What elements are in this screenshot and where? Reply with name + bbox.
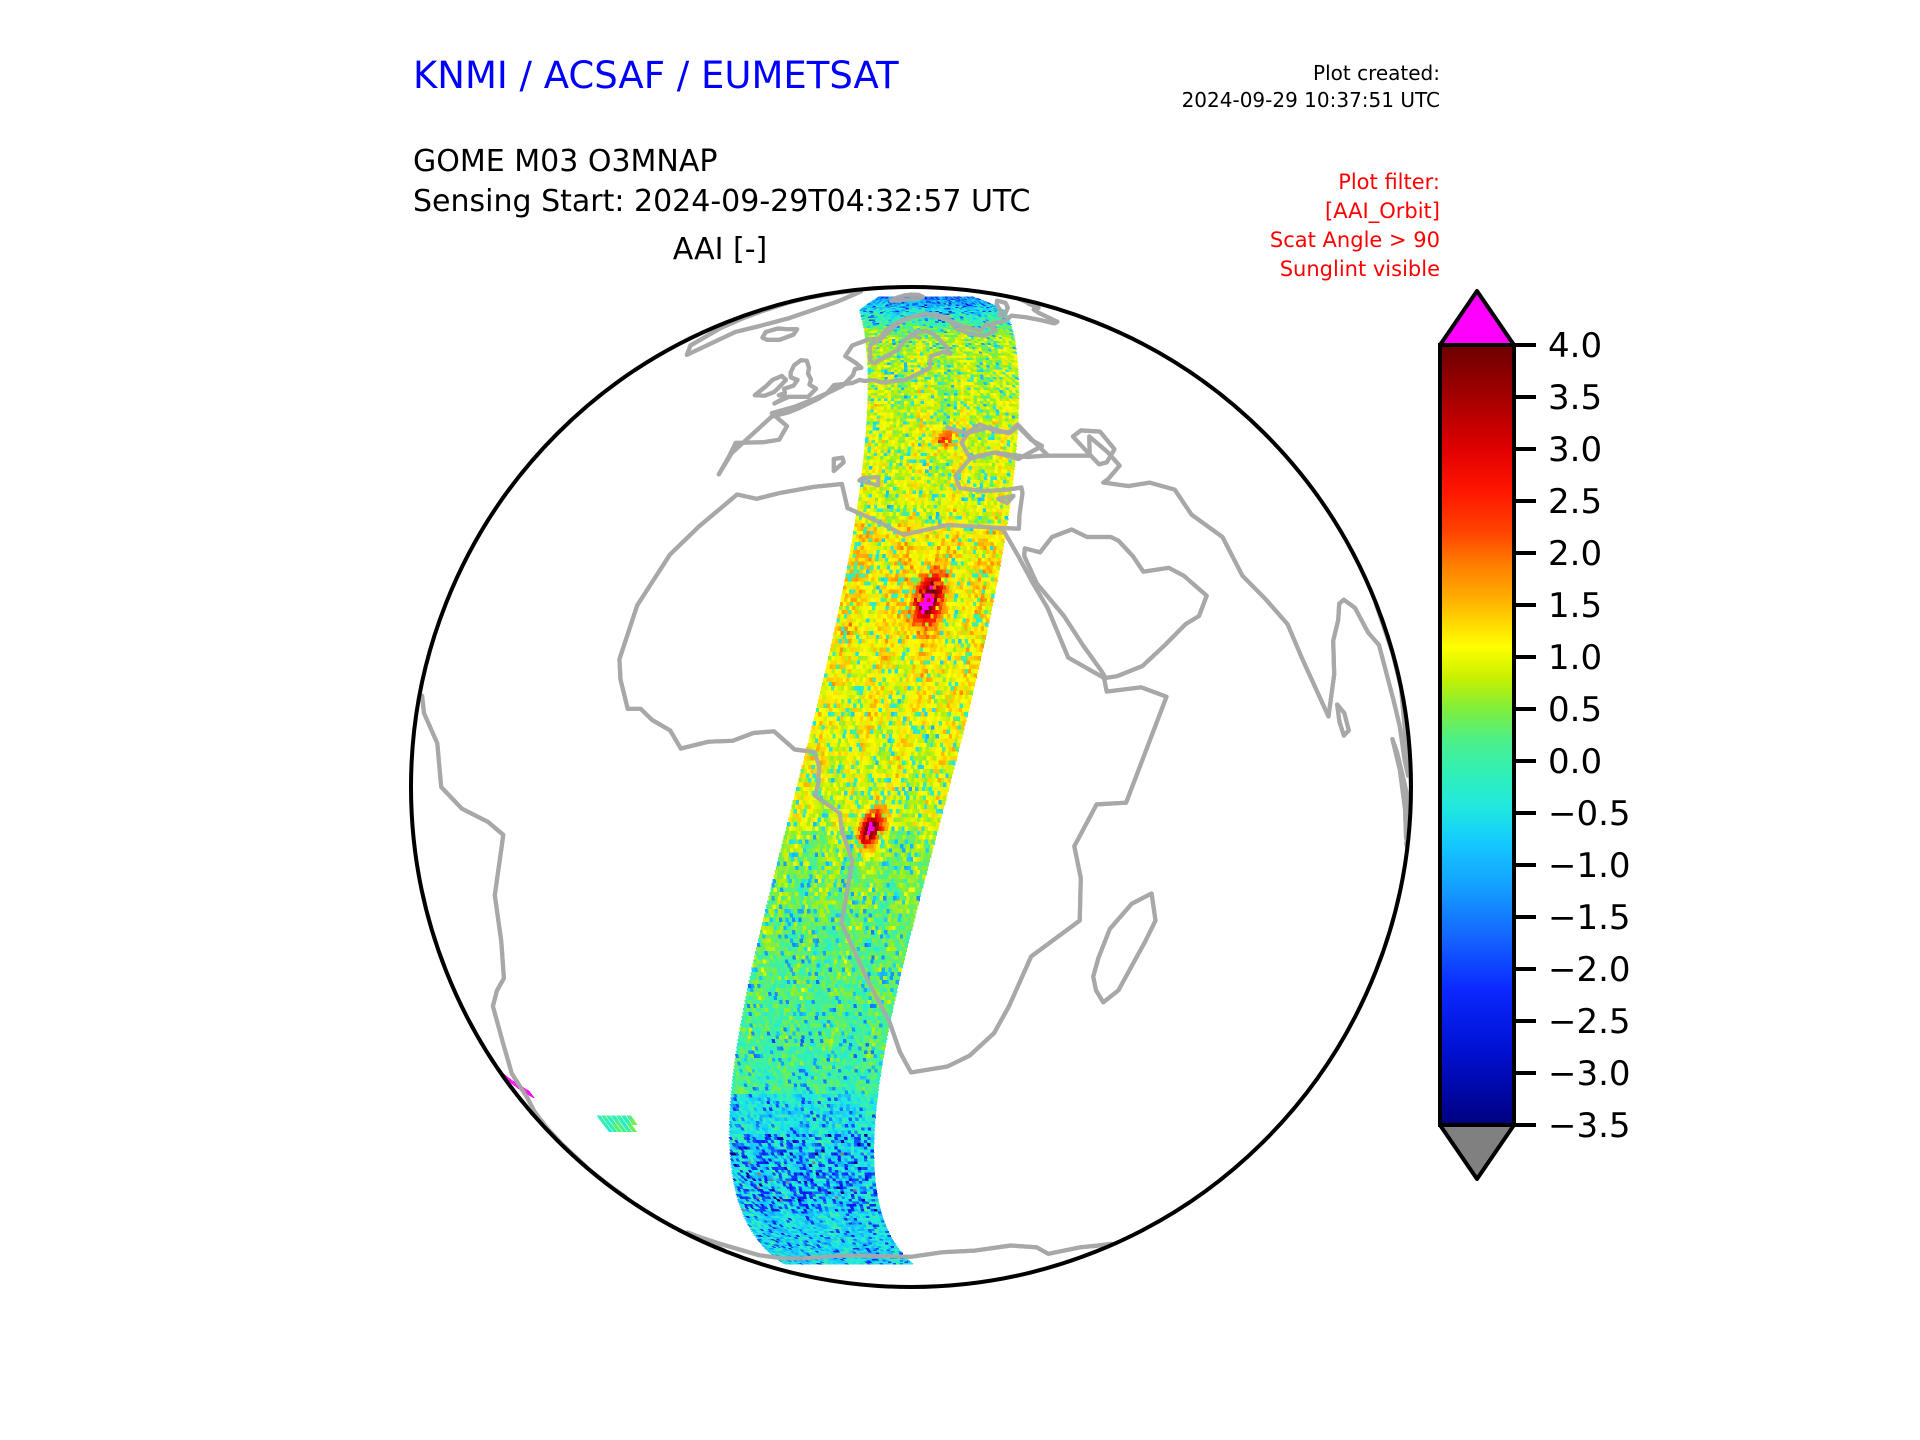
colorbar-tick-label: 3.0 [1548,430,1602,470]
plot-created-timestamp: 2024-09-29 10:37:51 UTC [1090,87,1440,114]
colorbar-tick-label: 1.5 [1548,586,1602,626]
colorbar-tick-label: −0.5 [1548,794,1631,834]
colorbar-tick-label: −2.0 [1548,950,1631,990]
filter-sunglint: Sunglint visible [1090,255,1440,284]
plot-canvas: KNMI / ACSAF / EUMETSAT Plot created: 20… [0,0,1920,1440]
filter-label: Plot filter: [1090,168,1440,197]
plot-created-block: Plot created: 2024-09-29 10:37:51 UTC [1090,60,1440,114]
colorbar-gradient-bar [1440,345,1514,1125]
colorbar-tick-labels: 4.03.53.02.52.01.51.00.50.0−0.5−1.0−1.5−… [1548,326,1631,1146]
organisation-title: KNMI / ACSAF / EUMETSAT [413,54,899,97]
colorbar-ticks [1514,345,1536,1125]
colorbar-tick-label: 4.0 [1548,326,1602,366]
sensing-start-line: Sensing Start: 2024-09-29T04:32:57 UTC [413,182,1030,222]
colorbar-tick-label: −1.5 [1548,898,1631,938]
colorbar-tick-label: 2.5 [1548,482,1602,522]
colorbar: 4.03.53.02.52.01.51.00.50.0−0.5−1.0−1.5−… [1430,285,1680,1300]
colorbar-tick-label: 2.0 [1548,534,1602,574]
colorbar-tick-label: 1.0 [1548,638,1602,678]
plot-filter-block: Plot filter: [AAI_Orbit] Scat Angle > 90… [1090,168,1440,284]
plot-created-label: Plot created: [1090,60,1440,87]
colorbar-tick-label: −1.0 [1548,846,1631,886]
filter-scat-angle: Scat Angle > 90 [1090,226,1440,255]
colorbar-tick-label: 3.5 [1548,378,1602,418]
orthographic-globe [406,282,1416,1292]
triangle-down-icon [1440,1125,1514,1179]
colorbar-tick-label: −3.5 [1548,1106,1631,1146]
dataset-meta-block: GOME M03 O3MNAP Sensing Start: 2024-09-2… [413,142,1030,222]
colorbar-tick-label: 0.5 [1548,690,1602,730]
colorbar-tick-label: 0.0 [1548,742,1602,782]
colorbar-tick-label: −3.0 [1548,1054,1631,1094]
filter-variable: [AAI_Orbit] [1090,197,1440,226]
triangle-up-icon [1440,291,1514,345]
instrument-product-line: GOME M03 O3MNAP [413,142,1030,182]
colorbar-tick-label: −2.5 [1548,1002,1631,1042]
